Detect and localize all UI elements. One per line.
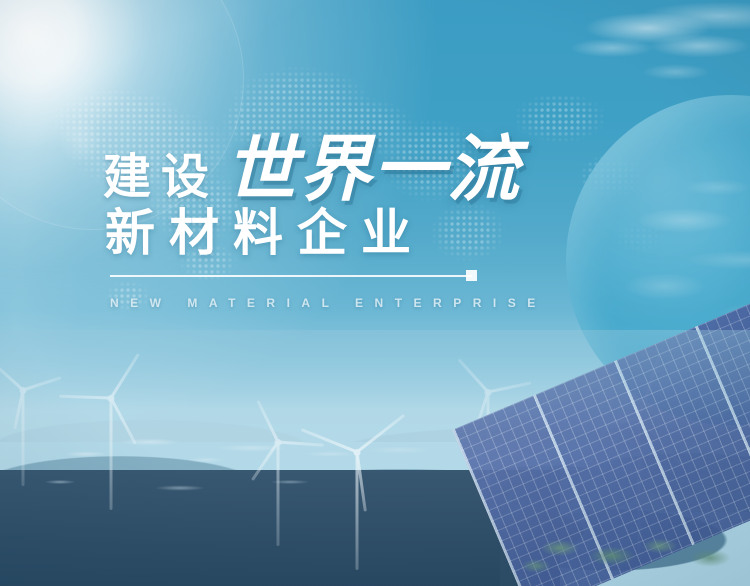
divider-cap [466,270,477,281]
hero-banner: 建设 世界一流 新材料企业 NEW MATERIAL ENTERPRISE [0,0,750,586]
headline-lead-text: 建设 [103,154,219,202]
subtitle-text: NEW MATERIAL ENTERPRISE [110,297,547,309]
banner-copy: 建设 世界一流 新材料企业 NEW MATERIAL ENTERPRISE [0,0,750,586]
headline-primary: 建设 世界一流 [103,134,521,202]
headline-secondary-text: 新材料企业 [105,208,425,258]
divider-line [110,275,472,277]
headline-accent-text: 世界一流 [225,134,521,206]
